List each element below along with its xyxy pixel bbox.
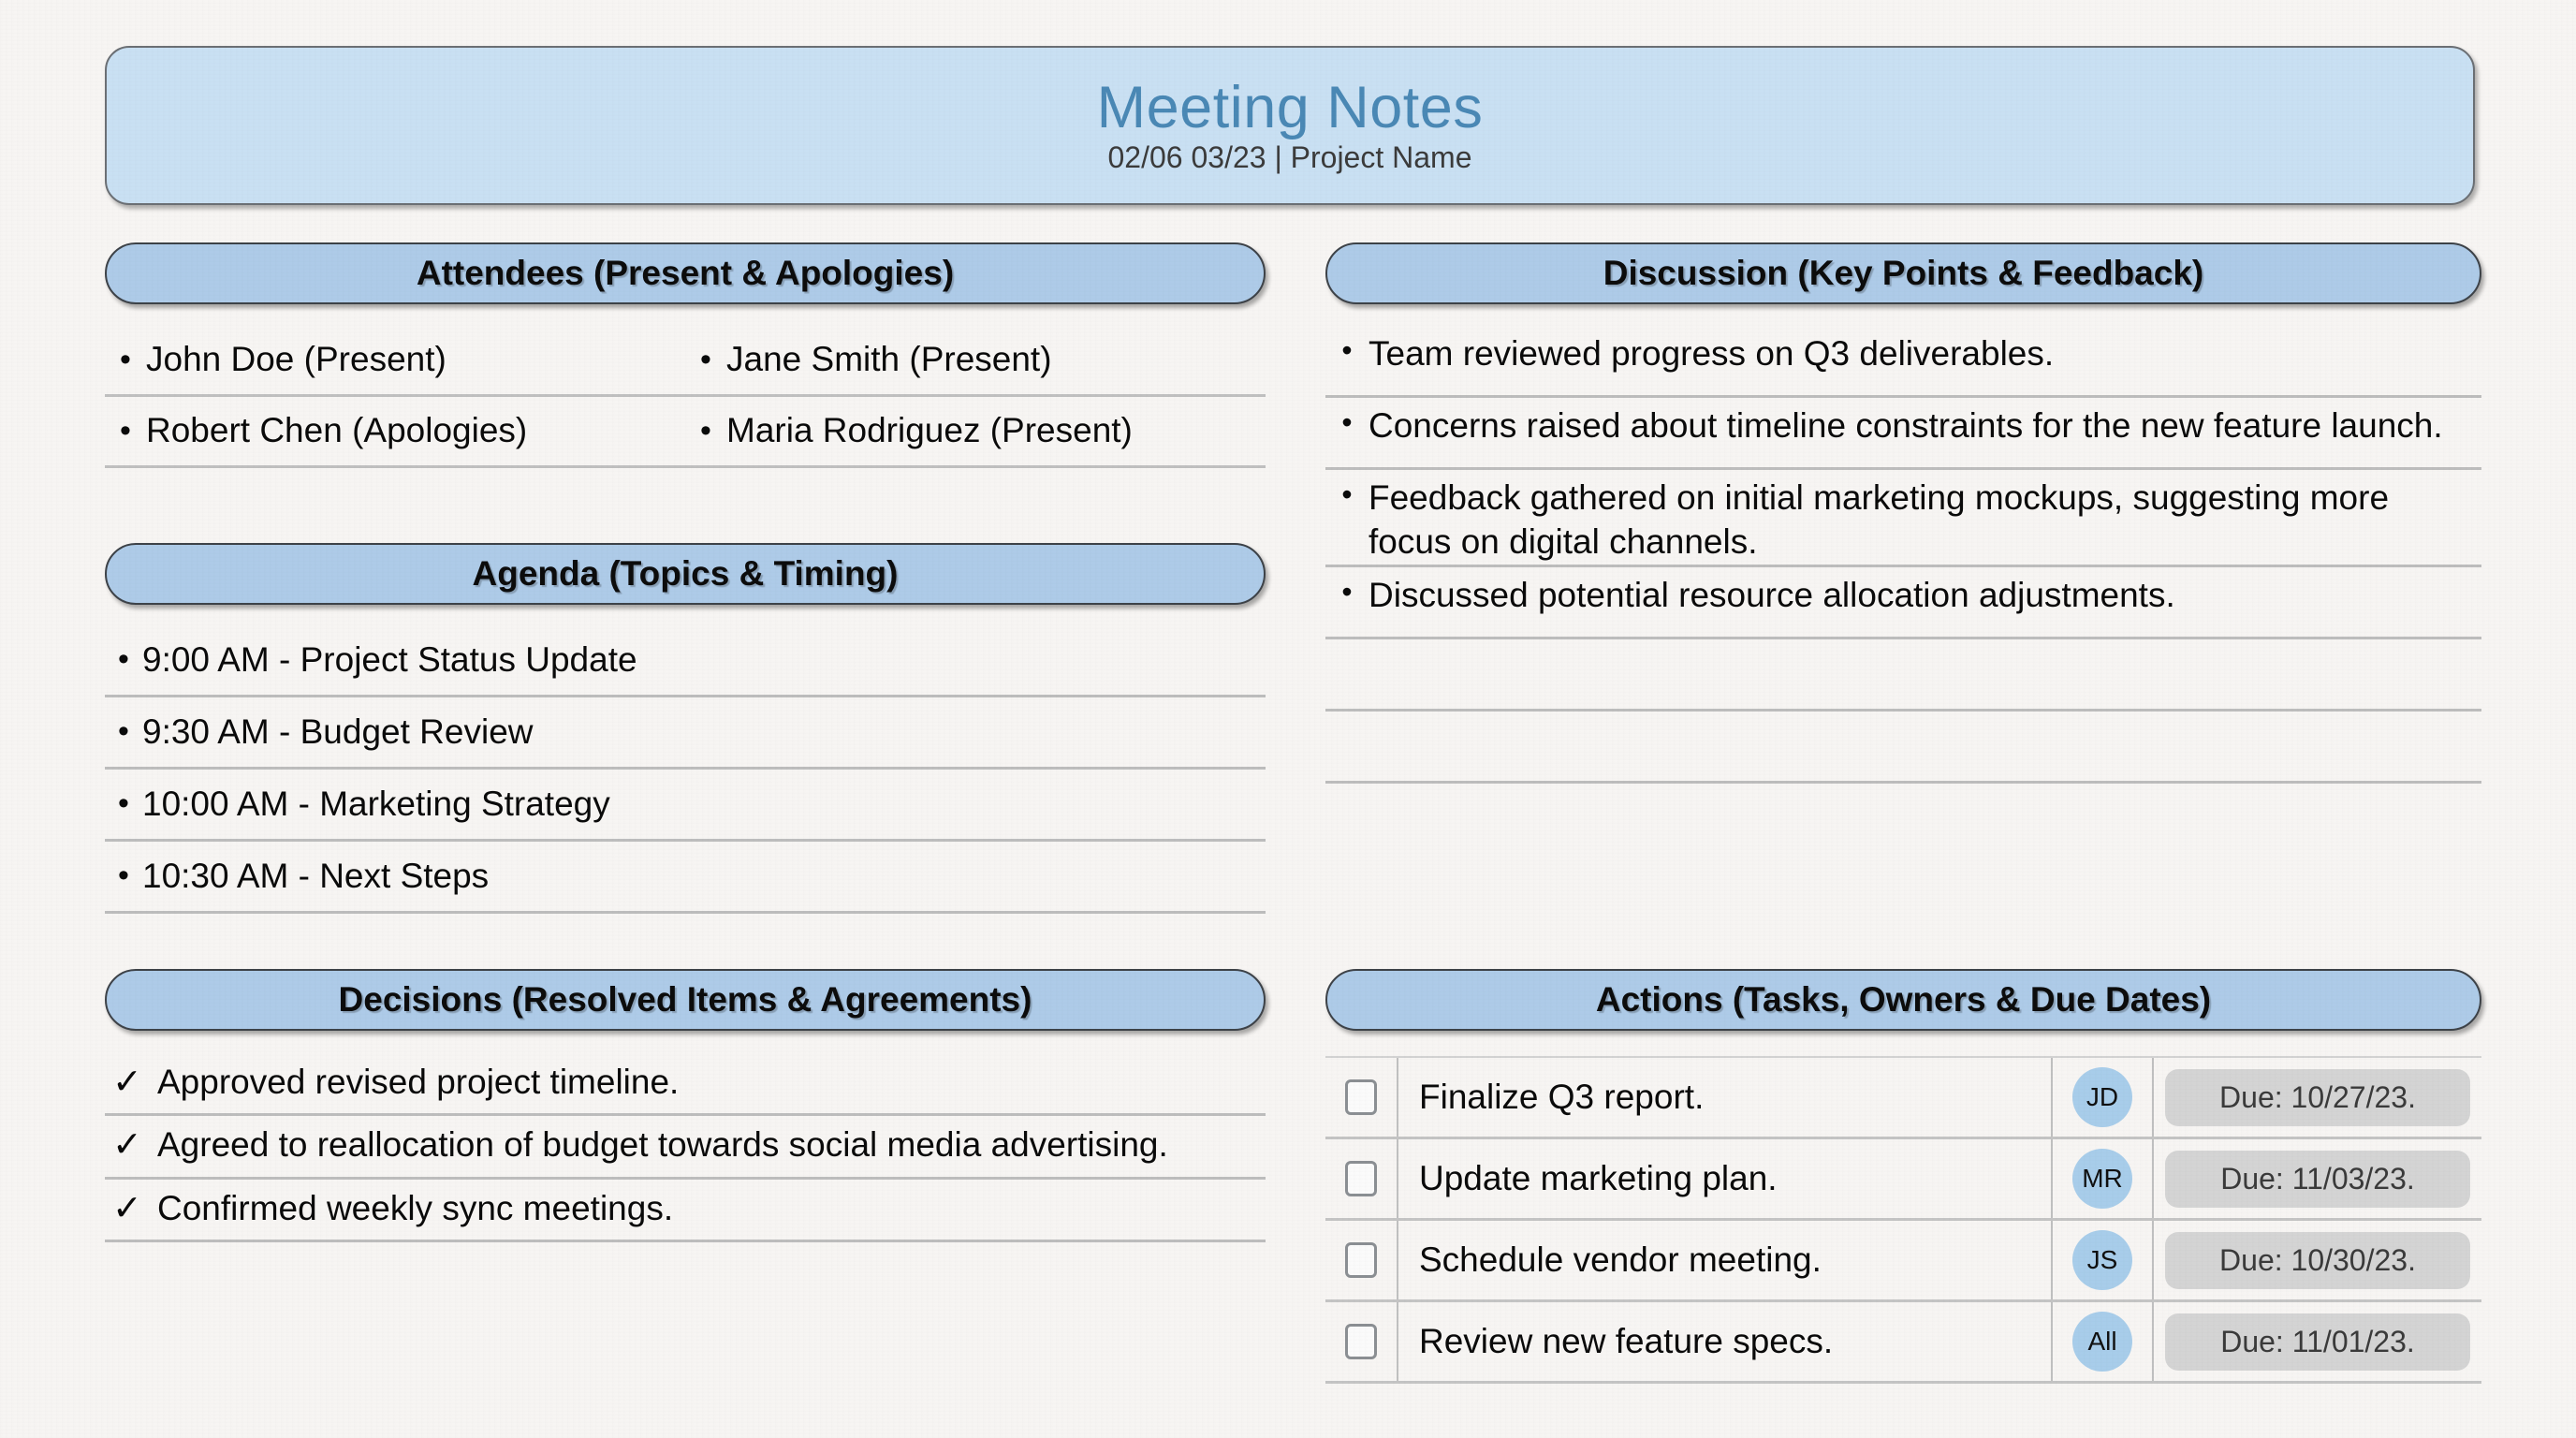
action-task-text: Schedule vendor meeting. — [1398, 1221, 2053, 1299]
action-owner-cell: MR — [2053, 1139, 2154, 1218]
table-row: Schedule vendor meeting.JSDue: 10/30/23. — [1325, 1221, 2481, 1302]
task-checkbox[interactable] — [1345, 1161, 1377, 1196]
bullet-icon: • — [105, 784, 142, 825]
attendees-list: •John Doe (Present)•Jane Smith (Present)… — [105, 326, 1266, 468]
action-owner-cell: All — [2053, 1302, 2154, 1381]
check-icon: ✓ — [105, 1187, 157, 1230]
attendee-name: Maria Rodriguez (Present) — [726, 409, 1142, 453]
owner-avatar: MR — [2072, 1149, 2132, 1209]
meeting-notes-page: Meeting Notes 02/06 03/23 | Project Name… — [0, 0, 2576, 1438]
action-owner-cell: JD — [2053, 1058, 2154, 1137]
agenda-row: •9:30 AM - Budget Review — [105, 697, 1266, 770]
owner-avatar: JS — [2072, 1230, 2132, 1290]
bullet-icon: • — [105, 411, 146, 452]
table-row: Update marketing plan.MRDue: 11/03/23. — [1325, 1139, 2481, 1221]
bullet-icon: • — [1325, 404, 1368, 442]
bullet-icon: • — [685, 411, 726, 452]
bullet-icon: • — [1325, 573, 1368, 611]
due-date-badge: Due: 11/03/23. — [2165, 1151, 2470, 1208]
decision-row: ✓Confirmed weekly sync meetings. — [105, 1180, 1266, 1242]
agenda-item-text: 10:30 AM - Next Steps — [142, 855, 498, 899]
action-owner-cell: JS — [2053, 1221, 2154, 1299]
action-checkbox-cell[interactable] — [1325, 1139, 1398, 1218]
decision-item-text: Agreed to reallocation of budget towards… — [157, 1123, 1183, 1166]
agenda-item-text: 10:00 AM - Marketing Strategy — [142, 783, 620, 827]
action-task-text: Review new feature specs. — [1398, 1302, 2053, 1381]
bullet-icon: • — [105, 712, 142, 753]
action-due-cell: Due: 10/27/23. — [2154, 1058, 2481, 1137]
due-date-badge: Due: 10/30/23. — [2165, 1232, 2470, 1289]
due-date-badge: Due: 11/01/23. — [2165, 1313, 2470, 1371]
attendee-name: Jane Smith (Present) — [726, 338, 1061, 382]
discussion-item-text: Feedback gathered on initial marketing m… — [1368, 476, 2481, 565]
action-due-cell: Due: 11/01/23. — [2154, 1302, 2481, 1381]
bullet-icon: • — [685, 340, 726, 381]
title-banner: Meeting Notes 02/06 03/23 | Project Name — [105, 46, 2475, 205]
discussion-list: •Team reviewed progress on Q3 deliverabl… — [1325, 326, 2481, 784]
attendee-name: John Doe (Present) — [146, 338, 456, 382]
action-task-text: Update marketing plan. — [1398, 1139, 2053, 1218]
task-checkbox[interactable] — [1345, 1324, 1377, 1359]
attendee-row: •Robert Chen (Apologies)•Maria Rodriguez… — [105, 397, 1266, 468]
section-header-discussion: Discussion (Key Points & Feedback) — [1325, 242, 2481, 304]
agenda-row: •10:30 AM - Next Steps — [105, 842, 1266, 914]
page-subtitle: 02/06 03/23 | Project Name — [1108, 142, 1472, 174]
table-row: Finalize Q3 report.JDDue: 10/27/23. — [1325, 1058, 2481, 1139]
discussion-row: •Feedback gathered on initial marketing … — [1325, 470, 2481, 567]
action-task-text: Finalize Q3 report. — [1398, 1058, 2053, 1137]
decision-item-text: Confirmed weekly sync meetings. — [157, 1187, 688, 1229]
agenda-list: •9:00 AM - Project Status Update•9:30 AM… — [105, 625, 1266, 914]
page-title: Meeting Notes — [1097, 77, 1484, 139]
attendee-name: Robert Chen (Apologies) — [146, 409, 536, 453]
discussion-row-empty — [1325, 639, 2481, 712]
owner-avatar: JD — [2072, 1067, 2132, 1127]
action-checkbox-cell[interactable] — [1325, 1221, 1398, 1299]
bullet-icon: • — [105, 340, 146, 381]
bullet-icon: • — [1325, 476, 1368, 514]
decision-item-text: Approved revised project timeline. — [157, 1061, 694, 1103]
decision-row: ✓Agreed to reallocation of budget toward… — [105, 1116, 1266, 1179]
attendee-item: •John Doe (Present) — [105, 338, 685, 382]
agenda-row: •10:00 AM - Marketing Strategy — [105, 770, 1266, 842]
bullet-icon: • — [105, 639, 142, 681]
attendee-item: •Jane Smith (Present) — [685, 338, 1266, 382]
discussion-row-empty — [1325, 712, 2481, 784]
agenda-item-text: 9:00 AM - Project Status Update — [142, 638, 647, 682]
owner-avatar: All — [2072, 1312, 2132, 1372]
attendee-row: •John Doe (Present)•Jane Smith (Present) — [105, 326, 1266, 397]
table-row: Review new feature specs.AllDue: 11/01/2… — [1325, 1302, 2481, 1384]
task-checkbox[interactable] — [1345, 1079, 1377, 1115]
action-checkbox-cell[interactable] — [1325, 1058, 1398, 1137]
discussion-row: •Concerns raised about timeline constrai… — [1325, 398, 2481, 470]
bullet-icon: • — [1325, 331, 1368, 370]
discussion-row: •Team reviewed progress on Q3 deliverabl… — [1325, 326, 2481, 398]
section-header-agenda: Agenda (Topics & Timing) — [105, 543, 1266, 605]
action-due-cell: Due: 10/30/23. — [2154, 1221, 2481, 1299]
task-checkbox[interactable] — [1345, 1242, 1377, 1278]
discussion-row: •Discussed potential resource allocation… — [1325, 567, 2481, 639]
decisions-list: ✓Approved revised project timeline.✓Agre… — [105, 1053, 1266, 1242]
action-checkbox-cell[interactable] — [1325, 1302, 1398, 1381]
agenda-item-text: 9:30 AM - Budget Review — [142, 711, 543, 755]
section-header-actions: Actions (Tasks, Owners & Due Dates) — [1325, 969, 2481, 1031]
due-date-badge: Due: 10/27/23. — [2165, 1069, 2470, 1126]
agenda-row: •9:00 AM - Project Status Update — [105, 625, 1266, 697]
discussion-item-text: Concerns raised about timeline constrain… — [1368, 404, 2462, 448]
section-header-attendees: Attendees (Present & Apologies) — [105, 242, 1266, 304]
discussion-item-text: Discussed potential resource allocation … — [1368, 573, 2194, 617]
attendee-item: •Robert Chen (Apologies) — [105, 409, 685, 453]
decision-row: ✓Approved revised project timeline. — [105, 1053, 1266, 1116]
bullet-icon: • — [105, 856, 142, 897]
discussion-item-text: Team reviewed progress on Q3 deliverable… — [1368, 331, 2072, 375]
check-icon: ✓ — [105, 1123, 157, 1167]
section-header-decisions: Decisions (Resolved Items & Agreements) — [105, 969, 1266, 1031]
action-due-cell: Due: 11/03/23. — [2154, 1139, 2481, 1218]
attendee-item: •Maria Rodriguez (Present) — [685, 409, 1266, 453]
check-icon: ✓ — [105, 1061, 157, 1104]
actions-table: Finalize Q3 report.JDDue: 10/27/23.Updat… — [1325, 1056, 2481, 1384]
